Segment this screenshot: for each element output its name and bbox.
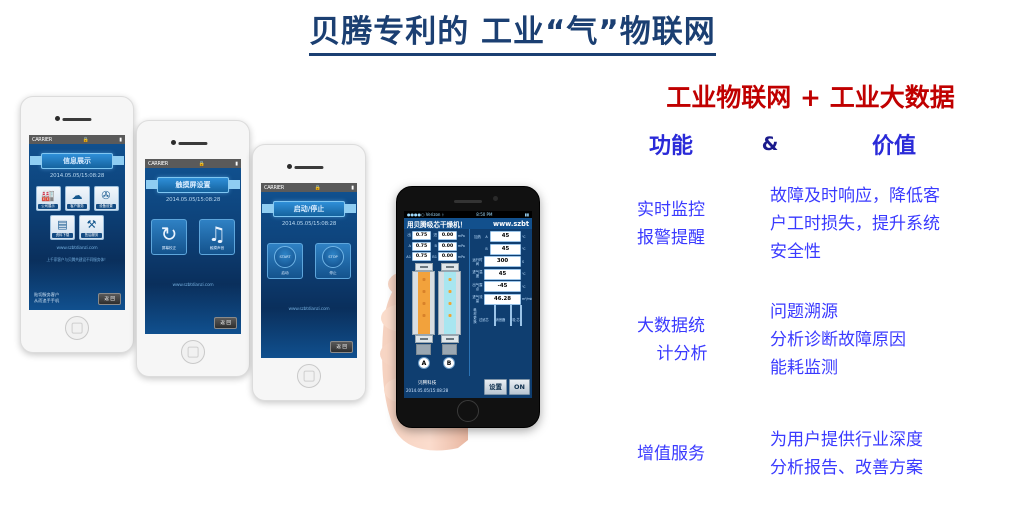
compass-icon: ✇ [101, 187, 110, 204]
phone2-status-bar: CARRIER 🔒 ▮ [145, 159, 241, 168]
readout-unit: S [522, 260, 530, 264]
hmi-timestamp: 2014.05.05/15:08:28 [406, 387, 448, 394]
hmi-footer: 贝腾科技 2014.05.05/15:08:28 设置 ON [404, 376, 532, 398]
progress-bar-muffler [510, 305, 512, 326]
panel-subhead: 功能 & 价值 [596, 128, 1025, 160]
battery-icon: ▮ [351, 185, 354, 191]
pressure-unit: mPa [458, 255, 465, 259]
pressure-value-a[interactable]: 0.75 [412, 242, 431, 251]
readout-row: 运行时间 300 S [472, 256, 530, 267]
pressure-row: 出 0.75 进 0.00 mPa [406, 231, 467, 240]
readout-value[interactable]: -45 [484, 281, 521, 292]
function-line: 增值服务 [596, 440, 746, 468]
hmi-title-left: 用贝腾吸芯干燥机！ [407, 219, 466, 229]
pressure-value-b[interactable]: 0.00 [438, 231, 457, 240]
phone3-url-line1: www.szbtdianzi.com [261, 307, 357, 312]
front-camera-icon [493, 196, 498, 201]
function-line: 计分析 [596, 340, 746, 368]
phone3-screen-title: 启动/停止 [273, 201, 344, 217]
progress-bar-core [520, 305, 522, 326]
phone3-button-grid: START 启动 STOP 停止 [261, 243, 357, 279]
battery-icon: ▮ [235, 161, 238, 167]
lock-icon: 🔒 [314, 185, 320, 191]
tile-caption: 设备设置 [96, 204, 116, 209]
tank-a-label: A [418, 357, 430, 369]
benefit-value-2: 问题溯源 分析诊断故障原因 能耗监测 [770, 298, 1025, 382]
readout-unit: ℃ [522, 272, 530, 276]
front-camera-icon [55, 116, 60, 121]
carrier-label: CARRIER [264, 185, 284, 191]
function-line: 大数据统 [596, 312, 746, 340]
tools-icon: ⚒ [87, 216, 97, 233]
tile-caption: 客户服务 [67, 204, 87, 209]
phone2-app-body: 触摸屏设置 2014.05.05/15:08:28 ↻ 屏幕校正 ♫ 触摸声音 … [145, 168, 241, 334]
phone2-screen-title: 触摸屏设置 [157, 177, 228, 193]
page-title-text: 贝腾专利的 工业“气”物联网 [309, 14, 716, 56]
value-line: 安全性 [770, 238, 1025, 266]
function-line: 实时监控 [596, 196, 746, 224]
benefit-value-3: 为用户提供行业深度 分析报告、改善方案 [770, 426, 1025, 482]
readout-unit: ℃ [522, 247, 530, 251]
tile-company-display[interactable]: 🏭 公司展示 [36, 186, 61, 211]
pressure-label-a: A [406, 244, 411, 248]
tile-caption: 触摸声音 [210, 246, 224, 251]
hmi-button-group: 设置 ON [484, 379, 530, 395]
home-button[interactable] [65, 316, 89, 340]
lock-icon: 🔒 [198, 161, 204, 167]
pressure-value-a[interactable]: 0.75 [412, 252, 431, 261]
readout-row: 进气温度 45 ℃ [472, 269, 530, 280]
hmi-title-bar: 用贝腾吸芯干燥机！ www.szbt [404, 218, 532, 229]
valve-icon [441, 263, 459, 271]
benefit-function-1: 实时监控 报警提醒 [596, 196, 746, 252]
phone1-footer: 贴切服务客户 从而追手手机 [34, 292, 59, 304]
tile-after-sales[interactable]: ⚒ 售后服务 [79, 215, 104, 240]
stop-tile[interactable]: STOP 停止 [315, 243, 351, 279]
phone2-url-line1: www.szbtdianzi.com [145, 283, 241, 288]
headline-plus: + [800, 83, 821, 112]
hmi-brand-block: 贝腾科技 2014.05.05/15:08:28 [406, 380, 448, 394]
page-title: 贝腾专利的 工业“气”物联网 [0, 6, 1025, 51]
phone1-url-line1: www.szbtdianzi.com [29, 246, 125, 251]
pressure-label-b: B [432, 244, 437, 248]
benefit-function-3: 增值服务 [596, 440, 746, 468]
document-icon: ▤ [57, 216, 67, 233]
phone3-app-body: 启动/停止 2014.05.05/15:08:28 START 启动 STOP … [261, 192, 357, 358]
earpiece-speaker [62, 118, 91, 121]
pressure-unit: mPa [458, 244, 465, 248]
bar-caption: 过滤芯 [479, 318, 489, 322]
pressure-label-b: 进 [432, 233, 437, 238]
valve-icon [415, 263, 433, 271]
hmi-main-area: 出 0.75 进 0.00 mPa A 0.75 B 0.00 mPa A1 0… [404, 229, 532, 376]
tile-caption: 公司展示 [38, 204, 58, 209]
progress-bar-filter [494, 305, 496, 326]
tile-screen-calibration[interactable]: ↻ 屏幕校正 [151, 219, 187, 255]
phone2-timestamp: 2014.05.05/15:08:28 [145, 197, 241, 203]
phone2-tile-grid: ↻ 屏幕校正 ♫ 触摸声音 [145, 219, 241, 255]
pressure-value-a[interactable]: 0.75 [412, 231, 431, 240]
phone-mockup-1: CARRIER 🔒 ▮ 信息展示 2014.05.05/15:08:28 🏭 公… [20, 96, 134, 353]
readout-label: 运行时间 [472, 258, 483, 266]
tile-download[interactable]: ▤ 资料下载 [50, 215, 75, 240]
benefit-row-3: 增值服务 为用户提供行业深度 分析报告、改善方案 [596, 426, 1025, 482]
readout-row: B 45 ℃ [472, 244, 530, 255]
readout-row: 进气流量 46.28 m³/min [472, 294, 530, 305]
pressure-label-a: A1 [406, 255, 411, 259]
phone1-status-bar: CARRIER 🔒 ▮ [29, 135, 125, 144]
home-button[interactable] [457, 400, 479, 422]
pressure-value-b[interactable]: 0.00 [438, 252, 457, 261]
battery-icon: ▮ [119, 137, 122, 143]
phone3-screen[interactable]: CARRIER 🔒 ▮ 启动/停止 2014.05.05/15:08:28 ST… [261, 183, 357, 358]
settings-button[interactable]: 设置 [484, 379, 507, 395]
battery-icon: ▮▮ [525, 212, 529, 217]
home-button[interactable] [297, 364, 321, 388]
tank-b-label: B [443, 357, 455, 369]
phone1-screen[interactable]: CARRIER 🔒 ▮ 信息展示 2014.05.05/15:08:28 🏭 公… [29, 135, 125, 310]
phone1-url-line2: 上千家客户与贝腾共建设不同服务体！ [29, 257, 125, 263]
earpiece-speaker [178, 142, 207, 145]
tank-a-fill [418, 272, 430, 334]
tank-labels: A B [406, 357, 467, 369]
readout-label: 出气露点 [472, 283, 483, 291]
phone3-status-bar: CARRIER 🔒 ▮ [261, 183, 357, 192]
valve-icon [415, 335, 433, 343]
pressure-label-b: B1 [432, 255, 437, 259]
subhead-value: 价值 [794, 128, 994, 160]
headline-right: 工业大数据 [830, 83, 955, 112]
tile-caption: 启动 [281, 271, 288, 276]
phone-mockup-3: CARRIER 🔒 ▮ 启动/停止 2014.05.05/15:08:28 ST… [252, 144, 366, 401]
bar-caption: 吸 芯 [512, 318, 519, 322]
pressure-row: A1 0.75 B1 0.00 mPa [406, 252, 467, 261]
tile-caption: 售后服务 [81, 233, 101, 238]
stop-icon: STOP [322, 246, 344, 268]
phone1-timestamp: 2014.05.05/15:08:28 [29, 173, 125, 179]
phone1-app-body: 信息展示 2014.05.05/15:08:28 🏭 公司展示 ☁ 客户服务 ✇… [29, 144, 125, 310]
carrier-label: CARRIER [32, 137, 52, 143]
earpiece-speaker [294, 166, 323, 169]
readout-value[interactable]: 45 [484, 269, 521, 280]
tile-customer-service[interactable]: ☁ 客户服务 [65, 186, 90, 211]
readout-label: 进气温度 [472, 270, 483, 278]
tile-caption: 资料下载 [52, 233, 72, 238]
value-line: 户工时损失，提升系统 [770, 210, 1025, 238]
subhead-amp: & [746, 133, 794, 155]
brand-label: 贝腾科技 [406, 380, 448, 387]
readout-value[interactable]: 300 [484, 256, 521, 267]
readout-label: 加热 [472, 235, 483, 239]
phone1-back-button[interactable]: 返 回 [98, 293, 121, 305]
cloud-service-icon: ☁ [72, 187, 83, 204]
value-line: 分析诊断故障原因 [770, 326, 1025, 354]
readout-unit: ℃ [522, 235, 530, 239]
tank-a [412, 263, 435, 355]
value-line: 问题溯源 [770, 298, 1025, 326]
home-button[interactable] [181, 340, 205, 364]
readout-unit: ℃ [522, 285, 530, 289]
panel-headline: 工业物联网 + 工业大数据 [596, 78, 1025, 114]
tile-caption: 屏幕校正 [162, 246, 176, 251]
readout-value[interactable]: 46.28 [484, 294, 521, 305]
clock-label: 8:50 PM [476, 212, 492, 217]
carrier-signal-label: ●●●●○ Verizon ᚼ [407, 212, 444, 217]
maintenance-label: 耗材更换 [472, 308, 478, 324]
music-note-icon: ♫ [208, 224, 226, 244]
hmi-left-panel: 出 0.75 进 0.00 mPa A 0.75 B 0.00 mPa A1 0… [404, 229, 470, 376]
readout-sublabel: A [484, 235, 489, 239]
readout-value[interactable]: 45 [490, 231, 521, 242]
tank-b-base [442, 344, 457, 355]
value-line: 为用户提供行业深度 [770, 426, 1025, 454]
hmi-screen[interactable]: ●●●●○ Verizon ᚼ 8:50 PM ▮▮ 用贝腾吸芯干燥机！ www… [404, 211, 532, 398]
pressure-unit: mPa [458, 234, 465, 238]
maintenance-bars: 过滤芯 消音器 吸 芯 [479, 306, 530, 325]
power-on-button[interactable]: ON [509, 379, 530, 395]
tank-a-base [416, 344, 431, 355]
refresh-icon: ↻ [161, 224, 178, 244]
maintenance-block: 耗材更换 过滤芯 消音器 吸 芯 [472, 306, 530, 325]
pressure-value-b[interactable]: 0.00 [438, 242, 457, 251]
tank-diagram [406, 263, 467, 355]
benefit-value-1: 故障及时响应，降低客 户工时损失，提升系统 安全性 [770, 182, 1025, 266]
subhead-function: 功能 [596, 128, 746, 160]
phone-mockup-2: CARRIER 🔒 ▮ 触摸屏设置 2014.05.05/15:08:28 ↻ … [136, 120, 250, 377]
front-camera-icon [287, 164, 292, 169]
benefit-function-2: 大数据统 计分析 [596, 312, 746, 368]
phone-mockup-4: ●●●●○ Verizon ᚼ 8:50 PM ▮▮ 用贝腾吸芯干燥机！ www… [396, 186, 540, 428]
start-icon: START [274, 246, 296, 268]
tile-caption: 停止 [329, 271, 336, 276]
readout-row: 出气露点 -45 ℃ [472, 281, 530, 292]
phone2-screen[interactable]: CARRIER 🔒 ▮ 触摸屏设置 2014.05.05/15:08:28 ↻ … [145, 159, 241, 334]
readout-label: 进气流量 [472, 295, 483, 303]
hmi-status-bar: ●●●●○ Verizon ᚼ 8:50 PM ▮▮ [404, 211, 532, 218]
function-line: 报警提醒 [596, 224, 746, 252]
front-camera-icon [171, 140, 176, 145]
readout-unit: m³/min [522, 297, 530, 301]
hmi-right-panel: 加热 A 45 ℃ B 45 ℃ 运行时间 300 S 进气温度 [470, 229, 532, 376]
phone3-timestamp: 2014.05.05/15:08:28 [261, 221, 357, 227]
phone2-back-button[interactable]: 返 回 [214, 317, 237, 329]
tank-b [438, 263, 461, 355]
tank-b-body [438, 271, 461, 335]
readout-value[interactable]: 45 [490, 244, 521, 255]
tile-touch-sound[interactable]: ♫ 触摸声音 [199, 219, 235, 255]
phone3-back-button[interactable]: 返 回 [330, 341, 353, 353]
carrier-label: CARRIER [148, 161, 168, 167]
start-tile[interactable]: START 启动 [267, 243, 303, 279]
pressure-row: A 0.75 B 0.00 mPa [406, 242, 467, 251]
valve-icon [441, 335, 459, 343]
readout-sublabel: B [484, 247, 489, 251]
pressure-label-a: 出 [406, 233, 411, 238]
tank-a-body [412, 271, 435, 335]
factory-icon: 🏭 [41, 187, 55, 204]
phone1-footer-line2: 从而追手手机 [34, 298, 59, 304]
bar-caption: 消音器 [496, 318, 506, 322]
value-line: 能耗监测 [770, 354, 1025, 382]
benefit-row-1: 实时监控 报警提醒 故障及时响应，降低客 户工时损失，提升系统 安全性 [596, 182, 1025, 266]
tile-device-settings[interactable]: ✇ 设备设置 [94, 186, 119, 211]
value-line: 分析报告、改善方案 [770, 454, 1025, 482]
headline-left: 工业物联网 [666, 83, 791, 112]
lock-icon: 🔒 [82, 137, 88, 143]
benefit-row-2: 大数据统 计分析 问题溯源 分析诊断故障原因 能耗监测 [596, 298, 1025, 382]
readout-row: 加热 A 45 ℃ [472, 231, 530, 242]
benefits-panel: 工业物联网 + 工业大数据 功能 & 价值 实时监控 报警提醒 故障及时响应，降… [596, 74, 1025, 504]
earpiece-speaker [454, 200, 482, 203]
tank-b-fill [444, 272, 456, 334]
value-line: 故障及时响应，降低客 [770, 182, 1025, 210]
hmi-title-url: www.szbt [493, 220, 529, 228]
phone1-tile-grid: 🏭 公司展示 ☁ 客户服务 ✇ 设备设置 ▤ 资料下载 ⚒ 售后服务 [29, 186, 125, 240]
phone1-screen-title: 信息展示 [41, 153, 112, 169]
